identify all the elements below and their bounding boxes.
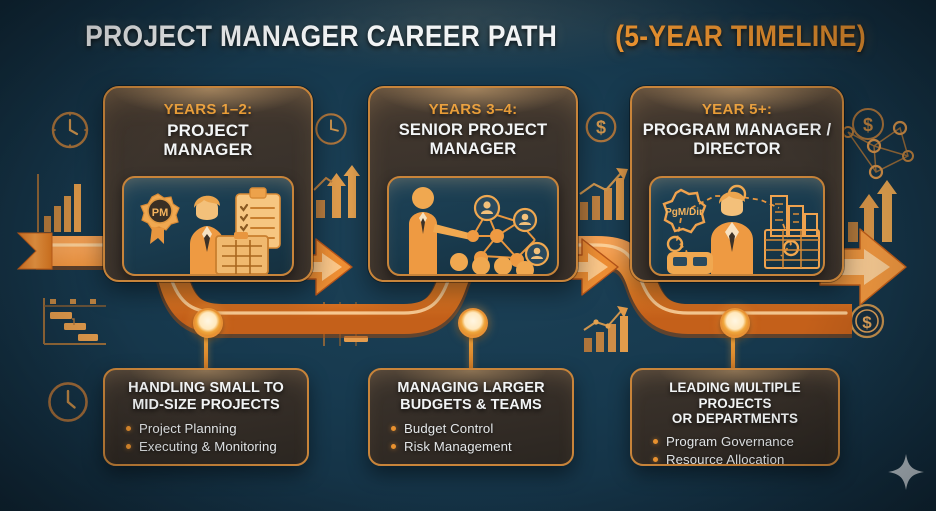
detail-card-3[interactable]: LEADING MULTIPLE PROJECTS OR DEPARTMENTS…	[630, 368, 840, 466]
gantt-chart-icon	[36, 294, 110, 350]
dollar-coin-icon: $	[582, 108, 620, 146]
stage-2-years: YEARS 3–4:	[370, 101, 576, 118]
list-item: Resource Allocation	[653, 451, 829, 466]
detail-2-heading: MANAGING LARGER BUDGETS & TEAMS	[379, 380, 563, 414]
svg-text:$: $	[863, 115, 873, 135]
timeline-node-1[interactable]	[193, 308, 223, 338]
clock-icon	[48, 108, 92, 152]
pm-badge-icon: PM	[141, 194, 179, 244]
stage-2-illustration	[387, 176, 559, 276]
svg-text:$: $	[862, 313, 872, 332]
detail-3-bullets: Program Governance Resource Allocation	[653, 433, 829, 466]
pgm-dir-badge-label: PgM/Dir	[665, 207, 703, 218]
page-title-accent: (5-YEAR TIMELINE)	[615, 20, 866, 54]
svg-text:PM: PM	[152, 207, 169, 219]
clock-icon	[312, 110, 350, 148]
dollar-coin-icon: $	[846, 300, 888, 342]
page-title-main: PROJECT MANAGER CAREER PATH	[85, 20, 557, 54]
stage-3-role: PROGRAM MANAGER / DIRECTOR	[642, 121, 832, 159]
infographic-canvas: PROJECT MANAGER CAREER PATH (5-YEAR TIME…	[0, 0, 936, 511]
growth-arrows-icon	[846, 178, 904, 244]
bar-chart-icon	[32, 170, 88, 236]
stage-1-illustration: PM	[122, 176, 294, 276]
detail-2-bullets: Budget Control Risk Management	[391, 420, 563, 457]
detail-1-heading: HANDLING SMALL TO MID-SIZE PROJECTS	[114, 380, 298, 414]
growth-arrows-icon	[310, 160, 362, 220]
list-item: Project Planning	[126, 420, 298, 439]
team-network-icon	[467, 196, 548, 267]
pgm-dir-badge-icon: PgM/Dir	[664, 190, 705, 232]
growth-bar-chart-icon	[576, 160, 636, 222]
network-graph-icon	[838, 112, 932, 192]
svg-text:$: $	[596, 118, 606, 138]
held-clipboard-icon	[216, 232, 268, 274]
detail-3-heading: LEADING MULTIPLE PROJECTS OR DEPARTMENTS	[641, 380, 829, 427]
list-item: Risk Management	[391, 438, 563, 457]
line-chart-icon	[578, 300, 640, 354]
dollar-coin-icon: $	[848, 104, 888, 144]
stage-card-3[interactable]: YEAR 5+: PROGRAM MANAGER / DIRECTOR PgM/…	[630, 86, 844, 282]
gantt-chart-icon	[314, 300, 372, 350]
sparkle-icon	[886, 452, 926, 492]
detail-1-bullets: Project Planning Executing & Monitoring	[126, 420, 298, 457]
page-title: PROJECT MANAGER CAREER PATH (5-YEAR TIME…	[0, 20, 936, 54]
stage-2-role: SENIOR PROJECT MANAGER	[380, 121, 566, 159]
detail-card-2[interactable]: MANAGING LARGER BUDGETS & TEAMS Budget C…	[368, 368, 574, 466]
list-item: Budget Control	[391, 420, 563, 439]
detail-card-1[interactable]: HANDLING SMALL TO MID-SIZE PROJECTS Proj…	[103, 368, 309, 466]
director-icon	[711, 192, 753, 274]
list-item: Program Governance	[653, 433, 829, 452]
stage-card-2[interactable]: YEARS 3–4: SENIOR PROJECT MANAGER	[368, 86, 578, 282]
timeline-node-3[interactable]	[720, 308, 750, 338]
clock-icon	[44, 378, 92, 426]
list-item: Executing & Monitoring	[126, 438, 298, 457]
stage-3-years: YEAR 5+:	[632, 101, 842, 118]
stage-card-1[interactable]: YEARS 1–2: PROJECT MANAGER PM	[103, 86, 313, 282]
stage-1-years: YEARS 1–2:	[105, 101, 311, 118]
train-icon	[667, 252, 713, 274]
timeline-node-2[interactable]	[458, 308, 488, 338]
stage-3-illustration: PgM/Dir	[649, 176, 825, 276]
stage-1-role: PROJECT MANAGER	[115, 121, 301, 160]
